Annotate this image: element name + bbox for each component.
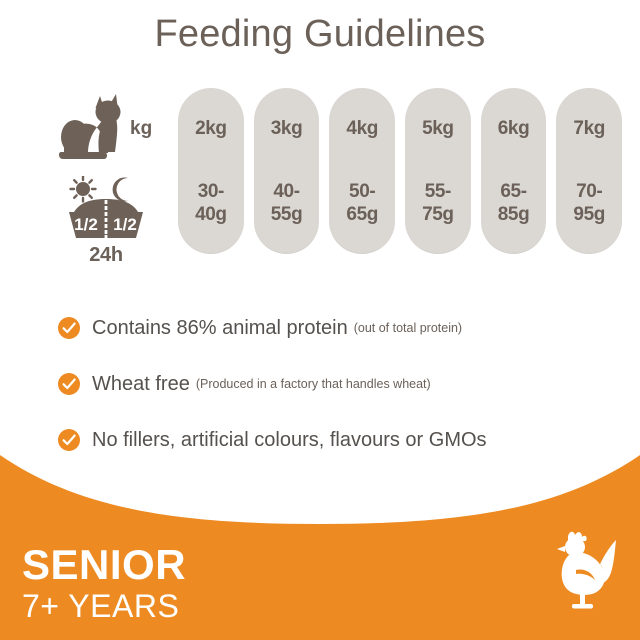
column-amount: 30- 40g	[178, 180, 244, 226]
page-title: Feeding Guidelines	[0, 8, 640, 60]
life-stage-text-block: SENIOR 7+ YEARS	[22, 543, 186, 625]
feeding-guidelines-panel: Feeding Guidelines	[0, 0, 640, 640]
morning-portion: 1/2	[74, 215, 98, 234]
life-stage-banner: SENIOR 7+ YEARS	[0, 440, 640, 640]
column-weight: 2kg	[178, 118, 244, 140]
column-amount: 65- 85g	[481, 180, 547, 226]
column-amount-line2: 55g	[254, 203, 320, 226]
evening-portion: 1/2	[113, 215, 137, 234]
life-stage-title: SENIOR	[22, 543, 186, 587]
column-amount-line1: 30-	[178, 180, 244, 203]
column-amount: 40- 55g	[254, 180, 320, 226]
claim-text: Wheat free	[92, 373, 190, 396]
feeding-table: kg	[0, 88, 640, 268]
claim-text: Contains 86% animal protein	[92, 317, 348, 340]
bowl-sun-moon-icon: 1/2 1/2	[60, 176, 152, 242]
column-weight: 7kg	[556, 118, 622, 140]
feeding-column: 2kg 30- 40g	[178, 88, 244, 254]
column-weight: 6kg	[481, 118, 547, 140]
column-amount-line2: 85g	[481, 203, 547, 226]
feeding-column: 3kg 40- 55g	[254, 88, 320, 254]
column-amount-line1: 40-	[254, 180, 320, 203]
column-amount-line1: 55-	[405, 180, 471, 203]
column-amount-line2: 75g	[405, 203, 471, 226]
check-circle-icon	[58, 373, 80, 395]
column-amount-line2: 65g	[329, 203, 395, 226]
feeding-column: 7kg 70- 95g	[556, 88, 622, 254]
check-circle-icon	[58, 317, 80, 339]
feeding-column: 6kg 65- 85g	[481, 88, 547, 254]
column-amount: 50- 65g	[329, 180, 395, 226]
life-stage-age-range: 7+ YEARS	[22, 587, 186, 625]
feeding-column: 4kg 50- 65g	[329, 88, 395, 254]
feeding-period-label: 24h	[60, 244, 152, 267]
chicken-icon	[546, 528, 618, 612]
weight-row-label: kg	[58, 90, 168, 162]
claim-note: (out of total protein)	[354, 321, 462, 335]
column-amount-line1: 65-	[481, 180, 547, 203]
column-weight: 5kg	[405, 118, 471, 140]
weight-unit-label: kg	[130, 118, 152, 140]
feeding-pill-track: 2kg 30- 40g 3kg 40- 55g 4kg 50- 65g	[178, 88, 622, 254]
column-amount: 55- 75g	[405, 180, 471, 226]
claim-note: (Produced in a factory that handles whea…	[196, 377, 431, 391]
column-amount-line1: 50-	[329, 180, 395, 203]
column-amount-line2: 95g	[556, 203, 622, 226]
column-amount-line1: 70-	[556, 180, 622, 203]
column-weight: 4kg	[329, 118, 395, 140]
cat-icon	[58, 90, 128, 162]
claim-item: Contains 86% animal protein (out of tota…	[58, 300, 598, 356]
feeding-table-row-labels: kg	[58, 88, 168, 268]
feeding-column: 5kg 55- 75g	[405, 88, 471, 254]
portion-row-label: 1/2 1/2 24h	[60, 176, 160, 268]
claim-item: Wheat free (Produced in a factory that h…	[58, 356, 598, 412]
column-amount-line2: 40g	[178, 203, 244, 226]
column-weight: 3kg	[254, 118, 320, 140]
column-amount: 70- 95g	[556, 180, 622, 226]
